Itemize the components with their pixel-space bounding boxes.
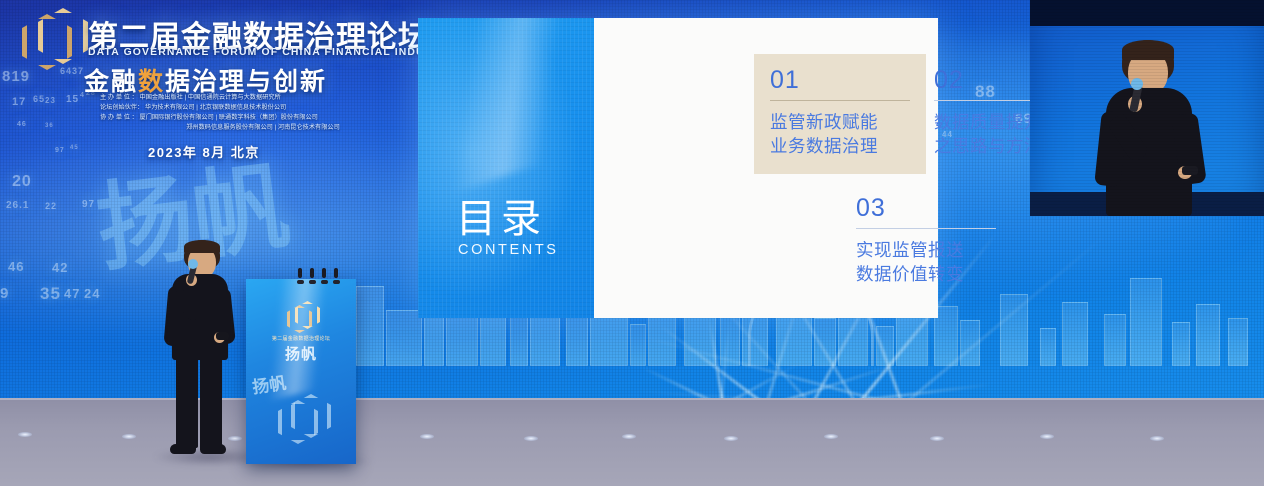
floor-inset-light (1040, 434, 1054, 439)
branded-podium: 第二届金融数据治理论坛 扬帆 扬帆 (246, 279, 356, 464)
podium-highlight (246, 279, 356, 409)
stage-presenter-figure (158, 240, 254, 456)
toc-item-line1: 监管新政赋能 (770, 110, 910, 134)
floor-inset-light (122, 434, 136, 439)
organizer-line: 郑州数码信息服务股份有限公司 | 河南昆仑技术有限公司 (100, 123, 400, 133)
floor-inset-light (420, 434, 434, 439)
slide-title-panel: 目录 CONTENTS (418, 18, 594, 318)
floor-inset-light (724, 436, 738, 441)
toc-item-01: 01 监管新政赋能 业务数据治理 (754, 54, 926, 174)
toc-item-03: 03 实现监管报送 数据价值转变 (856, 196, 996, 286)
toc-item-number: 01 (770, 68, 910, 93)
slide-toc-title-cn: 目录 (456, 186, 546, 244)
pip-scanline-texture (1030, 0, 1264, 216)
toc-item-line2: 业务数据治理 (770, 134, 910, 158)
floor-inset-light (622, 434, 636, 439)
toc-item-number: 03 (856, 196, 996, 221)
conference-stage-screenshot: 819643717652315428463697452026.122974642… (0, 0, 1264, 486)
hexagon-logo-icon (22, 8, 80, 70)
toc-item-text: 监管新政赋能 业务数据治理 (770, 110, 910, 158)
slide-content-panel: 01 监管新政赋能 业务数据治理 02 数据质量提升 之思路与方法 03 (594, 18, 938, 318)
toc-item-divider (770, 100, 910, 101)
floor-inset-light (18, 432, 32, 437)
picture-in-picture-speaker-view (1030, 0, 1264, 216)
event-subtitle-highlight: 数 (138, 68, 165, 96)
microphone-stand-group (296, 268, 340, 284)
toc-item-divider (856, 228, 996, 229)
toc-item-line2: 数据价值转变 (856, 262, 996, 286)
toc-item-text: 实现监管报送 数据价值转变 (856, 238, 996, 286)
event-title-en: DATA GOVERNANCE FORUM OF CHINA FINANCIAL… (88, 47, 457, 58)
event-date-location: 2023年 8月 北京 (148, 142, 260, 161)
organizer-list: 主 办 单 位 ： 中国金融出版社 | 中国信通院云计算与大数据研究所 论坛创始… (100, 93, 400, 133)
slide-toc-title-en: CONTENTS (458, 242, 559, 258)
event-banner: 第二届金融数据治理论坛 DATA GOVERNANCE FORUM OF CHI… (0, 0, 420, 175)
presentation-slide: 目录 CONTENTS 01 监管新政赋能 业务数据治理 02 数据质量提升 之… (418, 18, 938, 318)
organizer-line: 主 办 单 位 ： 中国金融出版社 | 中国信通院云计算与大数据研究所 (100, 93, 400, 103)
event-subtitle-prefix: 金融 (84, 68, 138, 96)
floor-inset-light (824, 434, 838, 439)
floor-inset-light (524, 436, 538, 441)
organizer-line: 协 办 单 位 ： 厦门国际银行股份有限公司 | 联通数字科技（集团）股份有限公… (100, 113, 400, 123)
toc-item-line1: 实现监管报送 (856, 238, 996, 262)
podium-watermark-logo-icon (278, 394, 324, 442)
floor-inset-light (930, 436, 944, 441)
organizer-line: 论坛创始伙伴： 华为技术有限公司 | 北京银联数据信息技术股份公司 (100, 103, 400, 113)
event-subtitle-suffix: 据治理与创新 (165, 68, 327, 96)
floor-inset-light (1150, 436, 1164, 441)
